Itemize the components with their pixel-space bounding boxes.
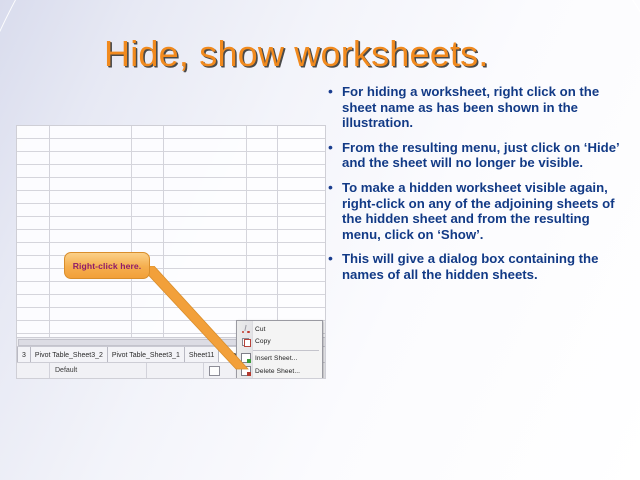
list-item: • This will give a dialog box containing… [326,251,626,282]
list-item: • For hiding a worksheet, right click on… [326,84,626,131]
menu-item-label: Cut [255,326,266,333]
bullet-marker-icon: • [326,180,342,196]
status-insert-mode-icon [204,363,237,378]
sheet-context-menu[interactable]: Cut Copy Insert Sheet... Delete Sheet...… [236,320,323,379]
spreadsheet-grid [17,126,325,347]
no-icon [239,378,252,379]
bullet-text: This will give a dialog box containing t… [342,251,626,282]
slide-canvas: Hide, show worksheets. • For hiding a wo… [0,0,640,480]
bullet-text: For hiding a worksheet, right click on t… [342,84,626,131]
bullet-marker-icon: • [326,251,342,267]
bullet-text: To make a hidden worksheet visible again… [342,180,626,242]
copy-icon [239,336,252,347]
bullet-list: • For hiding a worksheet, right click on… [326,84,626,292]
grid-column-line [277,126,278,347]
scrollbar-thumb[interactable] [18,339,258,346]
status-selection-mode [147,363,204,378]
menu-item-copy[interactable]: Copy [237,336,322,349]
spreadsheet-screenshot: 3 Pivot Table_Sheet3_2 Pivot Table_Sheet… [16,125,326,379]
menu-item-label: Copy [255,338,271,345]
delete-sheet-icon [239,366,252,377]
sheet-tab-3[interactable]: 3 [17,347,31,363]
list-item: • From the resulting menu, just click on… [326,140,626,171]
scissors-icon [239,324,252,335]
status-page-style: Default [50,363,147,378]
bullet-marker-icon: • [326,84,342,100]
menu-separator [253,350,319,351]
menu-item-label: Delete Sheet... [255,368,300,375]
slide-title: Hide, show worksheets. [104,33,489,75]
sheet-tab-pivot-table-sheet3-1[interactable]: Pivot Table_Sheet3_1 [108,347,185,363]
callout-text: Right-click here. [73,261,142,271]
bullet-marker-icon: • [326,140,342,156]
sheet-tab-sheet11[interactable]: Sheet11 [185,347,220,363]
grid-column-line [163,126,164,347]
bullet-text: From the resulting menu, just click on ‘… [342,140,626,171]
menu-item-cut[interactable]: Cut [237,323,322,336]
callout-bubble: Right-click here. [64,252,150,279]
menu-item-label: Insert Sheet... [255,355,298,362]
menu-item-delete-sheet[interactable]: Delete Sheet... [237,365,322,378]
sheet-tab-pivot-table-sheet3-2[interactable]: Pivot Table_Sheet3_2 [31,347,108,363]
menu-item-insert-sheet[interactable]: Insert Sheet... [237,352,322,365]
insert-sheet-icon [239,353,252,364]
grid-column-line [49,126,50,347]
menu-item-rename-sheet[interactable]: Rename Sheet... [237,377,322,379]
status-sheet-count [17,363,50,378]
list-item: • To make a hidden worksheet visible aga… [326,180,626,242]
